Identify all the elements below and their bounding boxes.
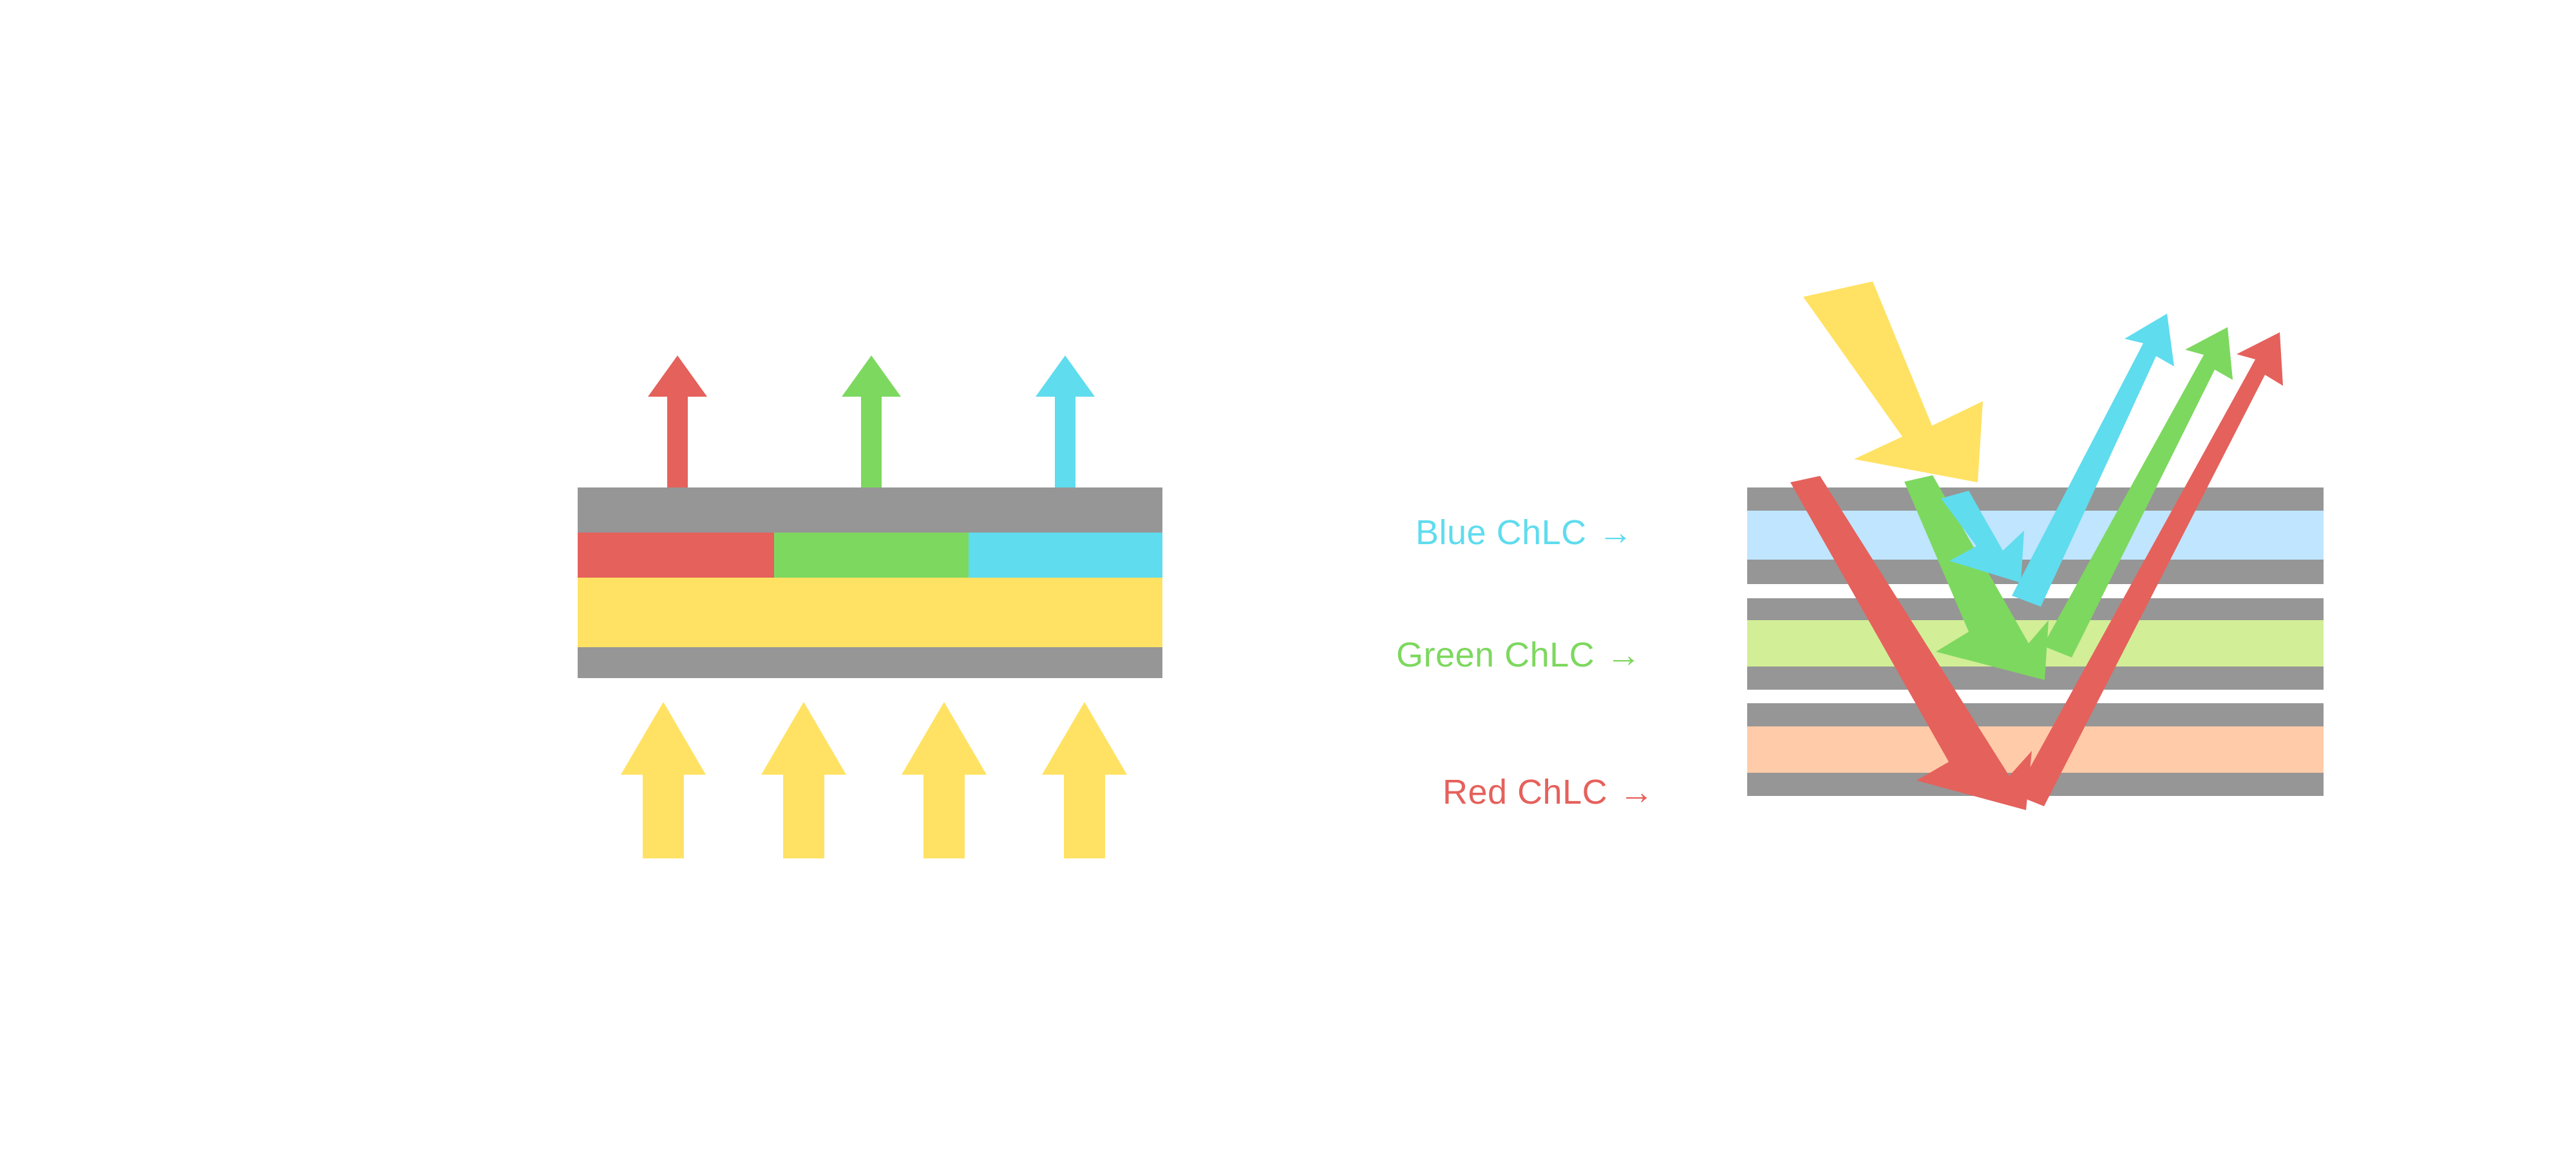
diagram-canvas: Blue ChLC→ Green ChLC→ Red ChLC→ <box>0 0 2576 1154</box>
right-stack-svg <box>0 0 2576 1154</box>
red-cell-top-substrate <box>1747 703 2324 726</box>
